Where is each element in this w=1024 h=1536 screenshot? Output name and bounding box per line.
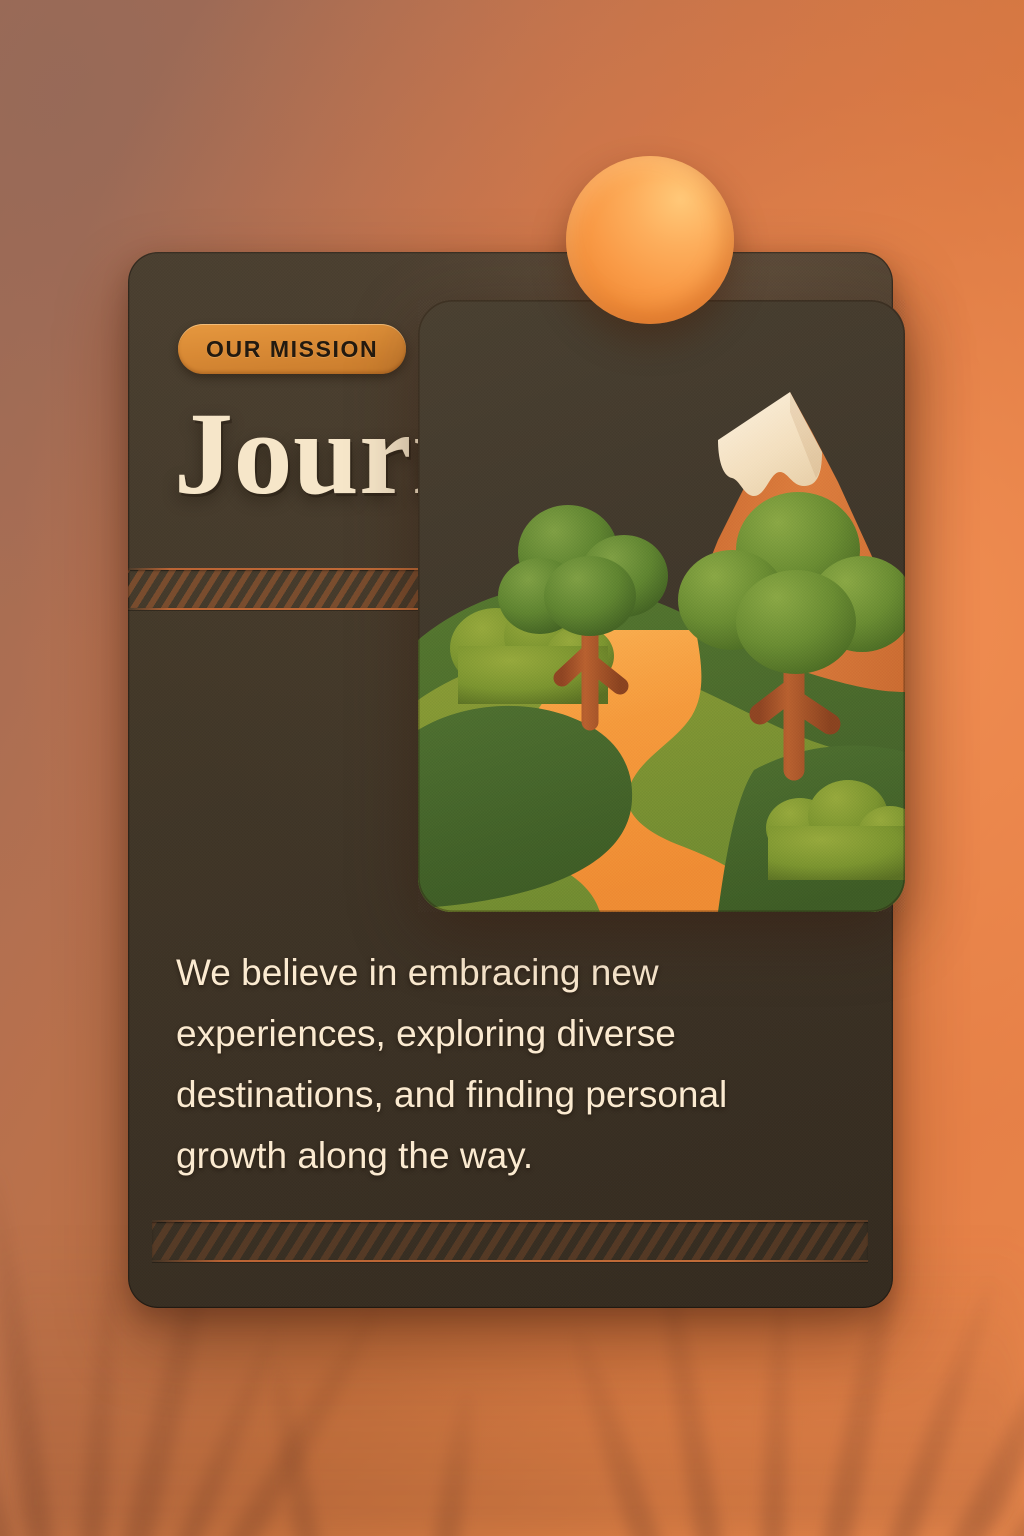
grass-blade bbox=[430, 1386, 481, 1536]
grass-blade bbox=[881, 1278, 1003, 1536]
mission-body-text: We believe in embracing new experiences,… bbox=[176, 942, 806, 1186]
divider-rule bbox=[152, 1260, 868, 1262]
grass-blade bbox=[169, 1321, 287, 1536]
poster-canvas: OUR MISSION Journey We believe in embrac… bbox=[0, 0, 1024, 1536]
divider-stripes bbox=[152, 1222, 868, 1260]
sun-icon bbox=[566, 156, 734, 324]
grass-blade bbox=[264, 1357, 324, 1536]
grass-blade bbox=[78, 1266, 123, 1536]
grass-blade bbox=[0, 1167, 56, 1536]
grass-blade bbox=[563, 1324, 667, 1536]
grass-blade bbox=[997, 1327, 1024, 1536]
our-mission-badge[interactable]: OUR MISSION bbox=[178, 324, 406, 374]
grass-blade bbox=[760, 1286, 794, 1536]
grass-blade bbox=[217, 1300, 390, 1536]
grass-blade bbox=[942, 1247, 1024, 1536]
mountain-landscape-illustration bbox=[418, 300, 905, 912]
grass-blade bbox=[0, 1245, 19, 1536]
badge-label: OUR MISSION bbox=[206, 336, 378, 363]
divider-bottom bbox=[152, 1220, 868, 1262]
